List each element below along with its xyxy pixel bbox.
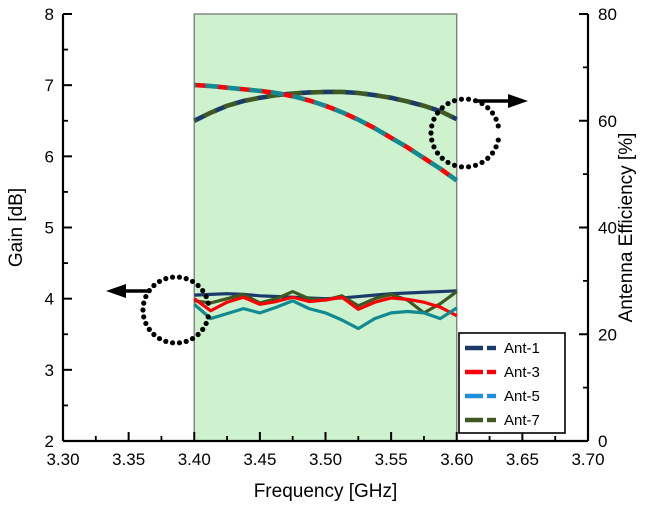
annotation-dot [452,163,457,168]
y-tick-label: 5 [45,219,54,238]
x-tick-label: 3.30 [46,450,79,469]
x-tick-label: 3.40 [178,450,211,469]
y2-tick-label: 20 [598,325,617,344]
y2-tick-label: 60 [598,112,617,131]
shaded-band-region [194,14,457,441]
annotation-dot [184,339,189,344]
x-tick-label: 3.35 [112,450,145,469]
annotation-dot [190,336,195,341]
annotation-dot [459,97,464,102]
annotation-dot [493,144,498,149]
annotation-dot [143,294,148,299]
annotation-dot [206,301,211,306]
annotation-dot [206,314,211,319]
annotation-dot [151,283,156,288]
annotation-dot [435,150,440,155]
annotation-dot [141,301,146,306]
annotation-dot [473,163,478,168]
left-axis-ticks: 2345678 [45,5,72,451]
annotation-dot [429,137,434,142]
chart-figure: 3.303.353.403.453.503.553.603.653.702345… [0,0,652,515]
y-tick-label: 2 [45,432,54,451]
x-axis-title: Frequency [GHz] [254,481,398,502]
y2-axis-title: Antenna Efficiency [%] [616,133,637,323]
y2-tick-label: 0 [598,432,607,451]
annotation-dot [490,150,495,155]
y-axis-title: Gain [dB] [6,188,27,267]
annotation-dot [466,97,471,102]
annotation-dot [440,156,445,161]
annotation-dot [177,275,182,280]
annotation-dot [177,340,182,345]
legend: Ant-1Ant-3Ant-5Ant-7 [459,333,565,433]
annotation-dot [485,105,490,110]
annotation-dot [170,275,175,280]
annotation-dot [190,279,195,284]
annotation-dot [440,105,445,110]
y-tick-label: 7 [45,76,54,95]
x-tick-label: 3.55 [375,450,408,469]
annotation-dot [435,110,440,115]
annotation-dot [459,164,464,169]
annotation-dot [466,164,471,169]
annotation-dot [195,332,200,337]
annotation-dot [147,327,152,332]
annotation-dot [204,294,209,299]
annotation-dot [445,160,450,165]
legend-label: Ant-1 [504,340,540,357]
y-tick-label: 6 [45,147,54,166]
annotation-dot [429,123,434,128]
annotation-dot [431,117,436,122]
y-tick-label: 8 [45,5,54,24]
gain-efficiency-chart: 3.303.353.403.453.503.553.603.653.702345… [0,0,652,515]
annotation-dot [428,130,433,135]
x-tick-label: 3.45 [243,450,276,469]
annotation-dot [431,144,436,149]
x-tick-label: 3.65 [506,450,539,469]
x-tick-label: 3.50 [309,450,342,469]
annotation-dot [163,339,168,344]
annotation-dot [496,123,501,128]
annotation-dot [151,332,156,337]
annotation-dot [157,336,162,341]
annotation-dot [496,137,501,142]
y2-tick-label: 40 [598,219,617,238]
annotation-dot [170,340,175,345]
x-tick-label: 3.70 [571,450,604,469]
annotation-dot [143,321,148,326]
y-tick-label: 3 [45,361,54,380]
annotation-dot [195,283,200,288]
annotation-dot [490,110,495,115]
y2-tick-label: 80 [598,5,617,24]
annotation-dot [445,101,450,106]
annotation-dot [485,156,490,161]
annotation-dot [452,98,457,103]
annotation-dot [141,314,146,319]
annotation-dot [140,307,145,312]
annotation-dot [163,276,168,281]
annotation-dot [204,321,209,326]
annotation-dot [184,276,189,281]
annotation-dot [157,279,162,284]
right-axis-ticks: 020406080 [579,5,617,451]
legend-label: Ant-7 [504,412,540,429]
efficiency-axis-pointer-arrow [477,94,528,108]
legend-label: Ant-5 [504,388,540,405]
y-tick-label: 4 [45,290,54,309]
annotation-dot [493,117,498,122]
arrow-head-right [508,94,528,108]
x-axis-ticks: 3.303.353.403.453.503.553.603.653.70 [46,432,604,469]
annotation-dot [479,160,484,165]
annotation-dot [200,327,205,332]
x-tick-label: 3.60 [440,450,473,469]
annotation-dot [200,288,205,293]
legend-label: Ant-3 [504,364,540,381]
arrow-head-left [106,284,126,298]
